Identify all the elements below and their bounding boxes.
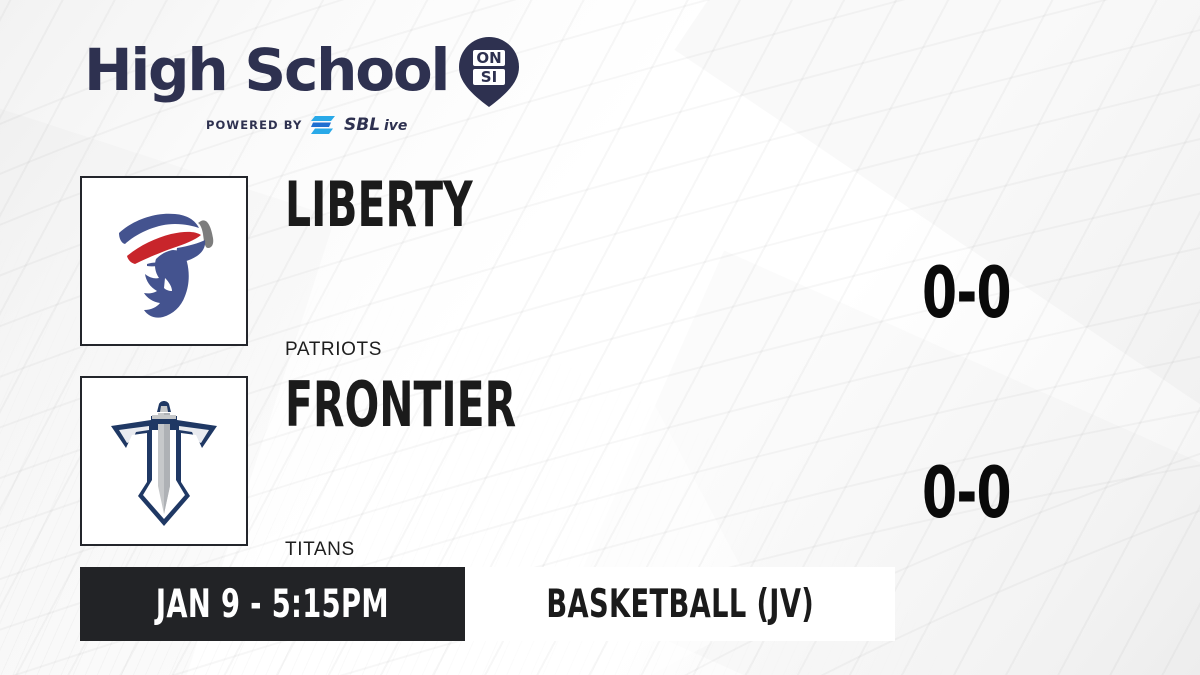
game-datetime-block: JAN 9 - 5:15PM (80, 567, 465, 641)
team-1-record: 0-0 (922, 258, 1011, 328)
game-info-banner: JAN 9 - 5:15PM BASKETBALL (JV) (80, 567, 895, 641)
game-datetime-text: JAN 9 - 5:15PM (156, 585, 389, 624)
scoreboard-graphic: High School ON SI POWERED BY SBL ive (0, 0, 1200, 675)
brand-header: High School ON SI POWERED BY SBL ive (84, 34, 514, 134)
svg-text:SBL: SBL (344, 115, 380, 134)
game-sport-block: BASKETBALL (JV) (465, 567, 896, 641)
onsi-pin-icon: ON SI (458, 36, 520, 108)
team-1-name: LIBERTY (285, 174, 473, 236)
team-2-mascot: TITANS (285, 539, 355, 561)
team-2-name: FRONTIER (285, 374, 516, 436)
svg-text:ive: ive (384, 118, 407, 134)
patriot-head-icon (89, 186, 239, 336)
team-2-record: 0-0 (922, 458, 1011, 528)
team-1-logo-box (80, 176, 248, 346)
pin-label-bottom: SI (481, 68, 497, 86)
team-1-mascot: PATRIOTS (285, 339, 382, 361)
pin-label-top: ON (477, 49, 502, 67)
sblive-wordmark: SBL ive (344, 115, 440, 134)
game-sport-text: BASKETBALL (JV) (546, 585, 814, 624)
titan-sword-icon (89, 386, 239, 536)
team-2-logo-box (80, 376, 248, 546)
brand-title: High School (84, 43, 448, 99)
powered-by-label: POWERED BY (206, 118, 302, 132)
sblive-s-mark-icon (311, 116, 335, 134)
